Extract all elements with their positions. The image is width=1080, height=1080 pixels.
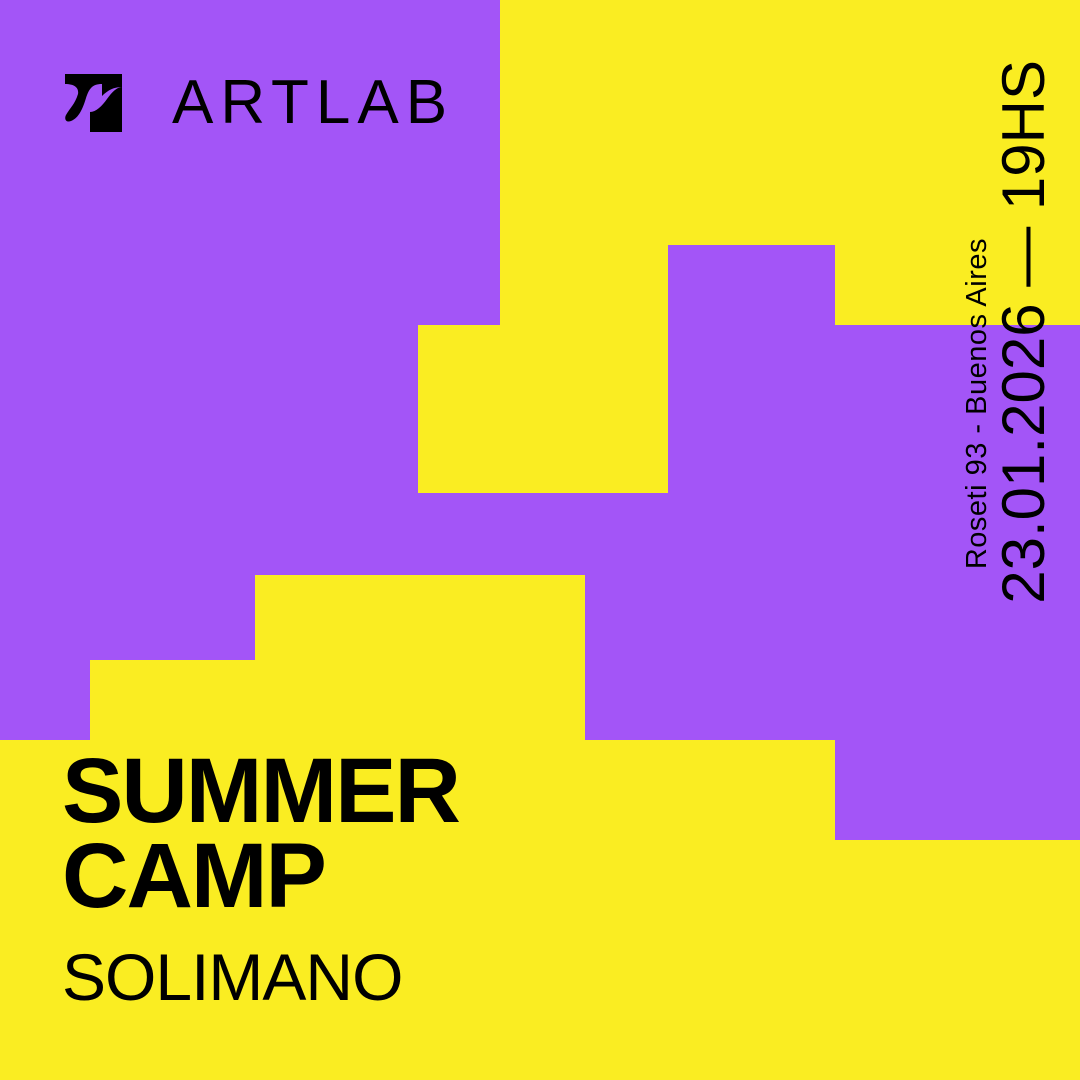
page-subtitle: SOLIMANO xyxy=(62,944,459,1010)
page-title: SUMMER CAMP xyxy=(62,749,459,920)
event-info-rail: 23.01.2026 — 19HS Roseti 93 - Buenos Air… xyxy=(963,60,1054,620)
brand-lockup[interactable]: ARTLAB xyxy=(62,72,454,134)
event-venue: Roseti 93 - Buenos Aires xyxy=(963,238,992,569)
headline-block: SUMMER CAMP SOLIMANO xyxy=(62,749,459,1010)
brand-wordmark: ARTLAB xyxy=(172,72,454,134)
poster-canvas: ARTLAB 23.01.2026 — 19HS Roseti 93 - Bue… xyxy=(0,0,1080,1080)
artlab-logo-mark-icon xyxy=(62,72,146,134)
event-datetime: 23.01.2026 — 19HS xyxy=(994,60,1054,604)
